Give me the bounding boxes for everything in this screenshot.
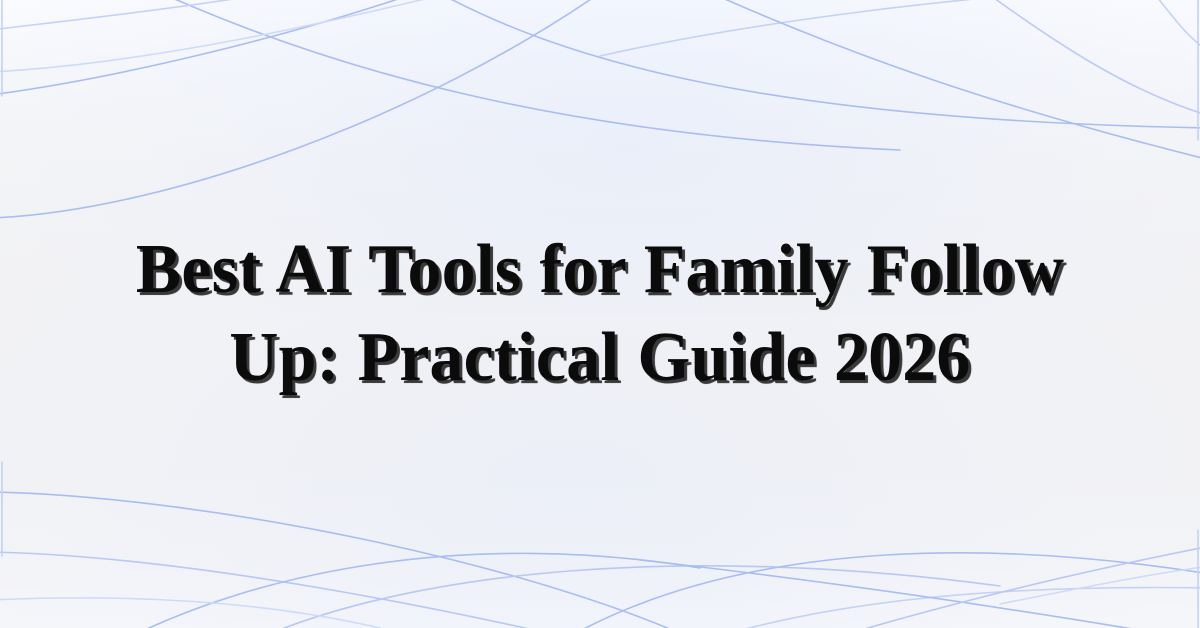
page-title: Best AI Tools for Family Follow Up: Prac… <box>125 226 1076 402</box>
share-card: Best AI Tools for Family Follow Up: Prac… <box>0 0 1200 628</box>
title-block: Best AI Tools for Family Follow Up: Prac… <box>0 0 1200 628</box>
